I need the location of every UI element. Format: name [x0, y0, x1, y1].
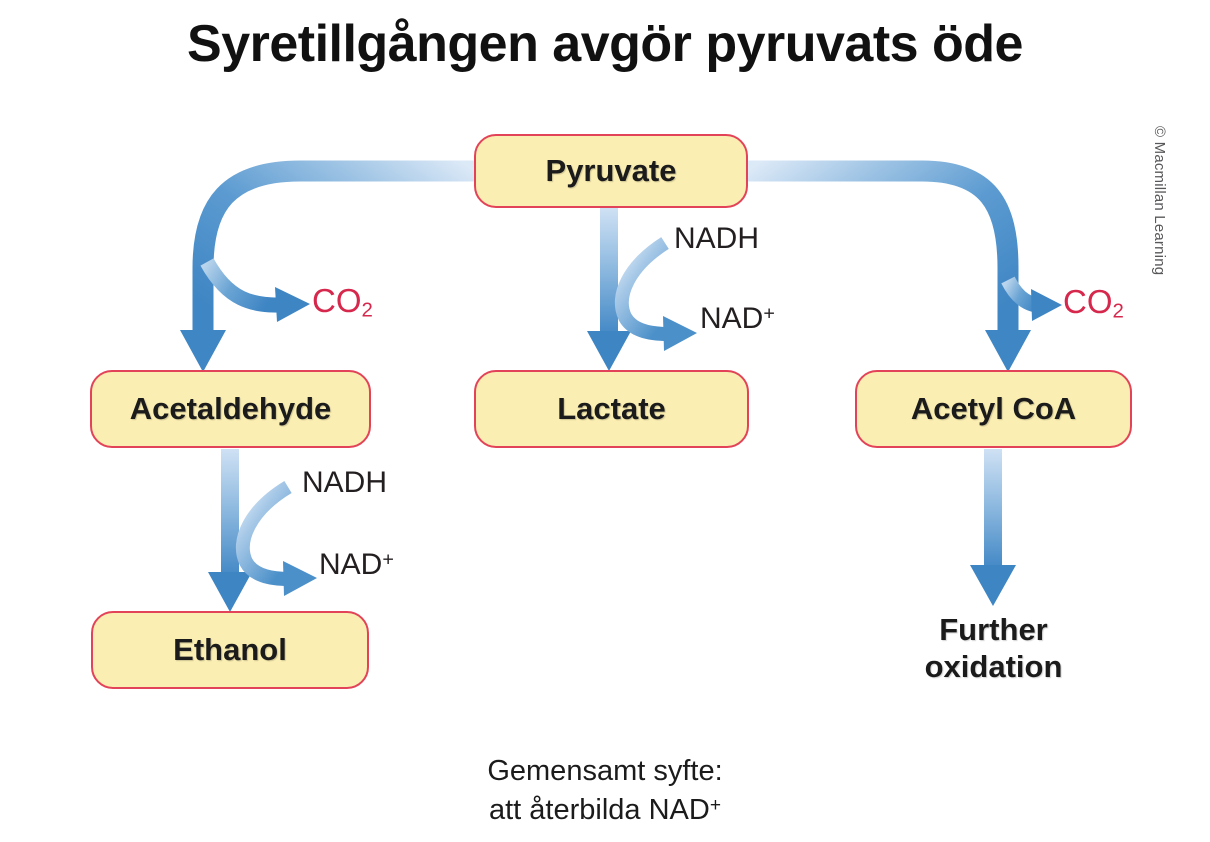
diagram-canvas: Syretillgången avgör pyruvats öde	[0, 0, 1210, 842]
node-lactate[interactable]: Lactate	[474, 370, 749, 448]
arrow-pyruvate-to-acetylcoa	[748, 171, 1031, 372]
arrow-nadh-to-nad-left	[243, 487, 317, 596]
label-nad-middle-text: NAD	[700, 302, 763, 335]
label-nad-plus-middle: NAD+	[700, 302, 775, 336]
label-co2-right: CO2	[1063, 283, 1124, 324]
arrow-pyruvate-to-acetaldehyde	[180, 171, 474, 372]
further-oxidation-line-1: Further	[855, 612, 1132, 649]
label-nad-middle-superscript: +	[763, 303, 775, 325]
label-nad-left-text: NAD	[319, 548, 382, 581]
copyright-notice: © Macmillan Learning	[1151, 126, 1168, 326]
label-co2-right-text: CO	[1063, 283, 1113, 320]
label-co2-left-subscript: 2	[362, 299, 373, 322]
node-further-oxidation: Further oxidation	[855, 612, 1132, 685]
label-nad-plus-left: NAD+	[319, 548, 394, 582]
caption-line-1: Gemensamt syfte:	[0, 752, 1210, 791]
caption-line-2-text: att återbilda NAD	[489, 794, 710, 826]
arrow-co2-left	[207, 262, 310, 322]
arrow-nadh-to-nad-middle	[622, 243, 697, 351]
label-nad-left-superscript: +	[382, 549, 394, 571]
caption-line-2-superscript: +	[710, 795, 721, 816]
label-co2-left-text: CO	[312, 282, 362, 319]
node-pyruvate[interactable]: Pyruvate	[474, 134, 748, 208]
label-nadh-middle: NADH	[674, 222, 759, 256]
label-co2-left: CO2	[312, 282, 373, 323]
node-ethanol[interactable]: Ethanol	[91, 611, 369, 689]
arrow-acetylcoa-to-further-oxidation	[970, 449, 1016, 606]
caption-line-2: att återbilda NAD+	[0, 791, 1210, 830]
label-co2-right-subscript: 2	[1113, 300, 1124, 323]
summary-caption: Gemensamt syfte: att återbilda NAD+	[0, 752, 1210, 829]
node-acetyl-coa[interactable]: Acetyl CoA	[855, 370, 1132, 448]
label-nadh-left: NADH	[302, 466, 387, 500]
further-oxidation-line-2: oxidation	[855, 649, 1132, 686]
node-acetaldehyde[interactable]: Acetaldehyde	[90, 370, 371, 448]
